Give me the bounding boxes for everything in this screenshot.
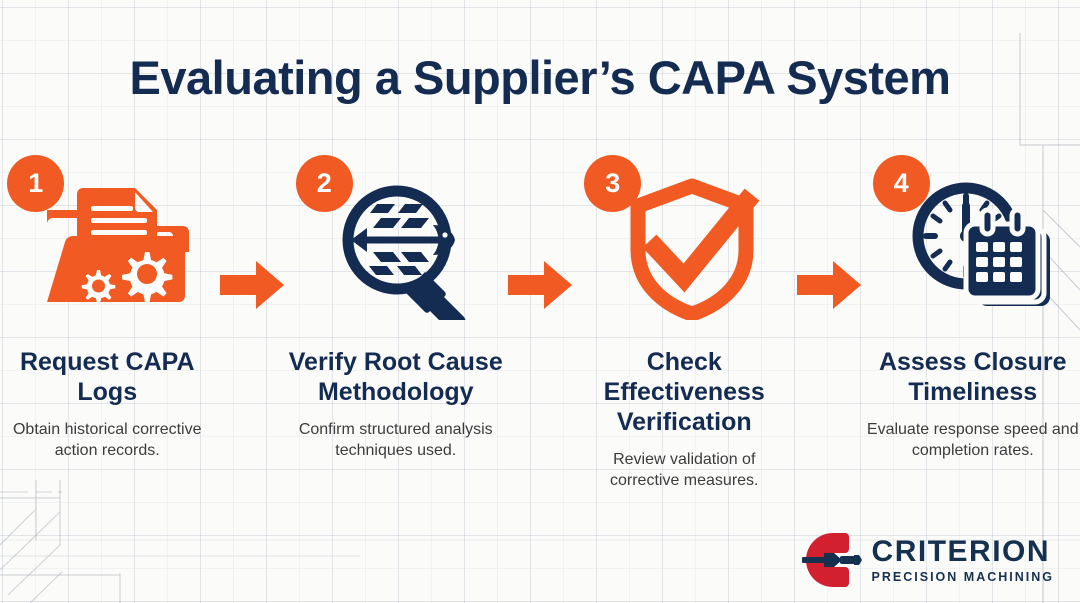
step-number-badge-2: 2 — [296, 155, 353, 212]
steps-row: 1 — [0, 150, 1080, 492]
flow-arrow-2 — [503, 150, 577, 335]
flow-arrow-3 — [792, 150, 866, 335]
step-3-icon-area: 3 — [584, 150, 784, 335]
logo-text-block: CRITERION PRECISION MACHINING — [872, 537, 1054, 584]
step-description-3: Review validation of corrective measures… — [577, 450, 792, 492]
step-description-2: Confirm structured analysis techniques u… — [289, 420, 504, 462]
flow-arrow-1 — [215, 150, 289, 335]
brand-logo: CRITERION PRECISION MACHINING — [800, 531, 1054, 589]
step-description-4: Evaluate response speed and completion r… — [866, 420, 1080, 462]
logo-tagline: PRECISION MACHINING — [872, 571, 1054, 584]
step-heading-4: Assess Closure Timeliness — [866, 347, 1080, 407]
infographic-canvas: Evaluating a Supplier’s CAPA System 1 — [0, 0, 1080, 603]
logo-company-name: CRITERION — [872, 537, 1054, 567]
step-card-1: 1 — [0, 150, 215, 462]
criterion-c-logo-icon — [800, 531, 862, 589]
step-description-1: Obtain historical corrective action reco… — [0, 420, 215, 462]
step-4-icon-area: 4 — [873, 150, 1073, 335]
step-number-badge-1: 1 — [7, 155, 64, 212]
step-heading-3: Check Effectiveness Verification — [577, 347, 792, 437]
step-2-icon-area: 2 — [296, 150, 496, 335]
step-number-badge-3: 3 — [584, 155, 641, 212]
step-card-4: 4 — [866, 150, 1080, 462]
step-card-2: 2 — [289, 150, 504, 462]
arrow-right-icon — [797, 259, 861, 311]
step-heading-2: Verify Root Cause Methodology — [289, 347, 504, 407]
step-1-icon-area: 1 — [7, 150, 207, 335]
arrow-right-icon — [508, 259, 572, 311]
page-title: Evaluating a Supplier’s CAPA System — [0, 50, 1080, 105]
arrow-right-icon — [220, 259, 284, 311]
step-heading-1: Request CAPA Logs — [0, 347, 215, 407]
step-number-badge-4: 4 — [873, 155, 930, 212]
step-card-3: 3 Check Effectiveness Verification Revie… — [577, 150, 792, 492]
